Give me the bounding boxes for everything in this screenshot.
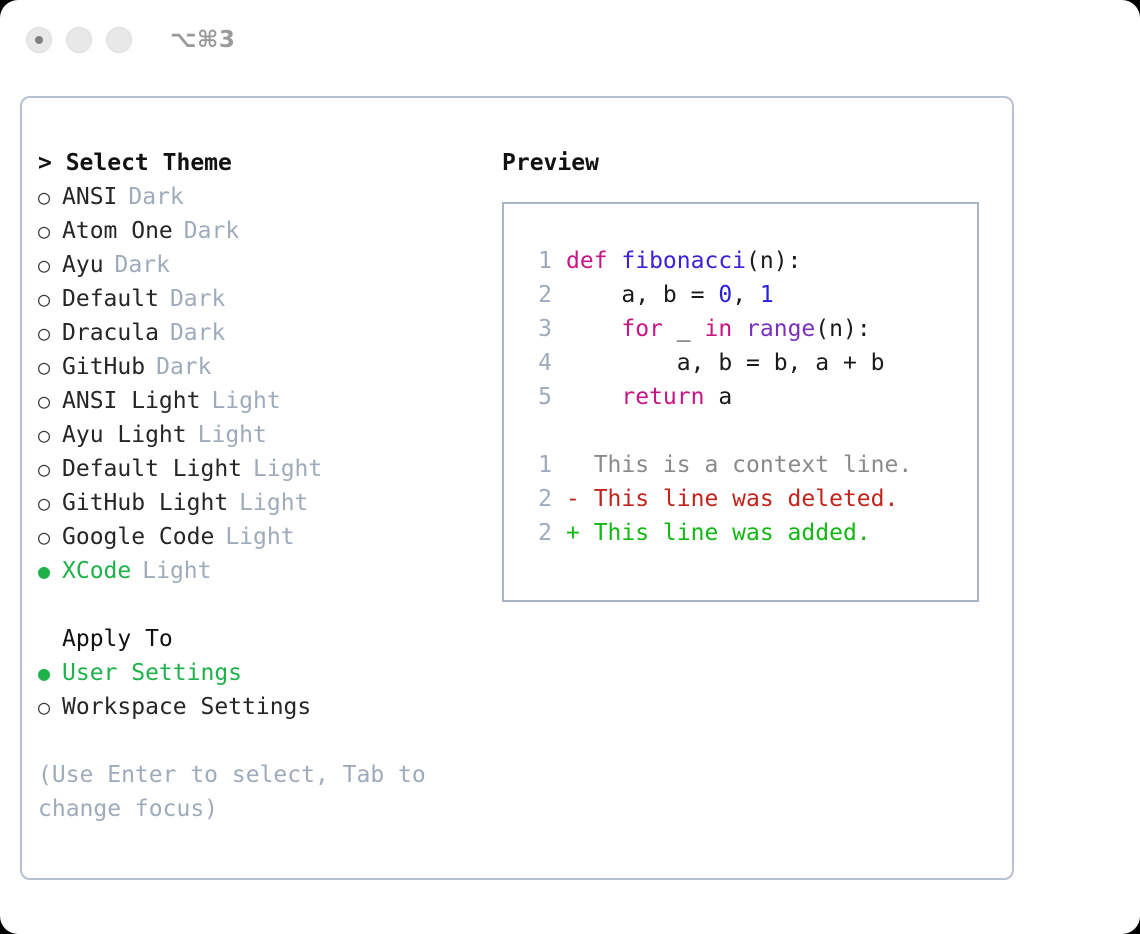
apply-to-option-workspace-settings[interactable]: ○Workspace Settings [38,690,498,724]
code-token: fibonacci [621,248,746,274]
theme-option-label: XCode [62,554,131,588]
code-token: return [621,384,704,410]
theme-option-variant-tag: Dark [156,350,211,384]
code-token [566,316,621,342]
panes: > Select Theme ○ANSIDark○Atom OneDark○Ay… [22,98,1012,878]
diff-lines: 1 This is a context line.2- This line wa… [522,448,969,550]
code-sample: 1def fibonacci(n):2 a, b = 0, 13 for _ i… [522,244,969,550]
keyboard-hint: (Use Enter to select, Tab to change focu… [38,758,448,826]
code-token: a [704,384,732,410]
section-spacer [38,588,498,622]
code-line-text: a, b = b, a + b [566,346,885,380]
radio-unselected-icon: ○ [38,350,62,384]
radio-unselected-icon: ○ [38,248,62,282]
code-line-text: return a [566,380,732,414]
apply-to-heading: Apply To [38,622,498,656]
app-window: ⌥⌘3 > Select Theme ○ANSIDark○Atom OneDar… [0,0,1140,934]
code-line-text: for _ in range(n): [566,312,871,346]
code-line: 3 for _ in range(n): [522,312,969,346]
theme-option-ansi[interactable]: ○ANSIDark [38,180,498,214]
radio-selected-icon: ● [38,656,62,690]
theme-option-variant-tag: Dark [170,282,225,316]
code-line-number: 3 [522,312,552,346]
code-token: , [732,282,760,308]
radio-unselected-icon: ○ [38,520,62,554]
code-line: 4 a, b = b, a + b [522,346,969,380]
diff-line-number: 1 [522,448,552,482]
theme-option-variant-tag: Dark [115,248,170,282]
diff-line-text: + This line was added. [566,516,871,550]
code-diff-spacer [522,414,969,448]
diff-line-text: This is a context line. [566,448,912,482]
diff-line: 2- This line was deleted. [522,482,969,516]
apply-to-option-user-settings[interactable]: ●User Settings [38,656,498,690]
theme-option-variant-tag: Light [239,486,308,520]
diff-line: 1 This is a context line. [522,448,969,482]
theme-option-ayu[interactable]: ○AyuDark [38,248,498,282]
code-token: 0 [718,282,732,308]
theme-option-variant-tag: Light [253,452,322,486]
code-token [732,316,746,342]
theme-option-ansi-light[interactable]: ○ANSI LightLight [38,384,498,418]
code-token: a, b = b, a + b [566,350,885,376]
theme-option-label: Dracula [62,316,159,350]
traffic-light-2[interactable] [66,27,92,53]
code-line: 1def fibonacci(n): [522,244,969,278]
theme-option-variant-tag: Dark [128,180,183,214]
preview-pane: Preview 1def fibonacci(n):2 a, b = 0, 13… [502,146,1002,602]
radio-unselected-icon: ○ [38,486,62,520]
theme-option-variant-tag: Light [225,520,294,554]
theme-option-variant-tag: Light [211,384,280,418]
diff-line: 2+ This line was added. [522,516,969,550]
radio-unselected-icon: ○ [38,282,62,316]
code-token: a, b = [566,282,718,308]
code-token: range [746,316,815,342]
code-line-number: 2 [522,278,552,312]
code-line-text: a, b = 0, 1 [566,278,774,312]
code-line: 5 return a [522,380,969,414]
theme-option-google-code[interactable]: ○Google CodeLight [38,520,498,554]
theme-option-atom-one[interactable]: ○Atom OneDark [38,214,498,248]
theme-option-label: Ayu [62,248,104,282]
traffic-light-1[interactable] [26,27,52,53]
preview-heading: Preview [502,146,1002,180]
diff-line-number: 2 [522,516,552,550]
apply-to-option-label: Workspace Settings [62,690,311,724]
traffic-light-dot-icon [35,36,43,44]
theme-option-variant-tag: Dark [184,214,239,248]
theme-option-default-light[interactable]: ○Default LightLight [38,452,498,486]
theme-option-label: Ayu Light [62,418,187,452]
code-line: 2 a, b = 0, 1 [522,278,969,312]
theme-option-label: Default Light [62,452,242,486]
theme-list-pane: > Select Theme ○ANSIDark○Atom OneDark○Ay… [38,146,498,826]
theme-option-github-light[interactable]: ○GitHub LightLight [38,486,498,520]
radio-unselected-icon: ○ [38,452,62,486]
theme-option-dracula[interactable]: ○DraculaDark [38,316,498,350]
code-line-number: 5 [522,380,552,414]
traffic-light-3[interactable] [106,27,132,53]
theme-option-label: GitHub Light [62,486,228,520]
theme-option-label: ANSI [62,180,117,214]
theme-option-label: Atom One [62,214,173,248]
code-token: in [704,316,732,342]
diff-line-number: 2 [522,482,552,516]
theme-option-label: Default [62,282,159,316]
theme-option-label: GitHub [62,350,145,384]
radio-unselected-icon: ○ [38,384,62,418]
theme-option-label: ANSI Light [62,384,200,418]
radio-unselected-icon: ○ [38,418,62,452]
theme-option-ayu-light[interactable]: ○Ayu LightLight [38,418,498,452]
theme-option-variant-tag: Dark [170,316,225,350]
code-token: (n): [746,248,801,274]
theme-option-default[interactable]: ○DefaultDark [38,282,498,316]
code-token: _ [663,316,705,342]
radio-unselected-icon: ○ [38,316,62,350]
code-token [566,384,621,410]
select-theme-heading: > Select Theme [38,146,498,180]
radio-unselected-icon: ○ [38,214,62,248]
code-line-text: def fibonacci(n): [566,244,801,278]
traffic-lights [26,27,132,53]
diff-line-text: - This line was deleted. [566,482,898,516]
preview-box: 1def fibonacci(n):2 a, b = 0, 13 for _ i… [502,202,979,602]
code-token: (n): [815,316,870,342]
theme-option-github[interactable]: ○GitHubDark [38,350,498,384]
radio-unselected-icon: ○ [38,180,62,214]
keyboard-shortcut-label: ⌥⌘3 [170,27,235,53]
radio-selected-icon: ● [38,554,62,588]
code-token: def [566,248,621,274]
theme-option-variant-tag: Light [198,418,267,452]
theme-option-variant-tag: Light [142,554,211,588]
code-token: 1 [760,282,774,308]
main-card: > Select Theme ○ANSIDark○Atom OneDark○Ay… [20,96,1014,880]
radio-unselected-icon: ○ [38,690,62,724]
theme-option-list: ○ANSIDark○Atom OneDark○AyuDark○DefaultDa… [38,180,498,588]
apply-to-option-list: ●User Settings○Workspace Settings [38,656,498,724]
apply-to-option-label: User Settings [62,656,242,690]
theme-option-label: Google Code [62,520,214,554]
code-lines: 1def fibonacci(n):2 a, b = 0, 13 for _ i… [522,244,969,414]
code-line-number: 4 [522,346,552,380]
theme-option-xcode[interactable]: ●XCodeLight [38,554,498,588]
code-line-number: 1 [522,244,552,278]
code-token: for [621,316,663,342]
title-bar: ⌥⌘3 [0,0,1140,80]
